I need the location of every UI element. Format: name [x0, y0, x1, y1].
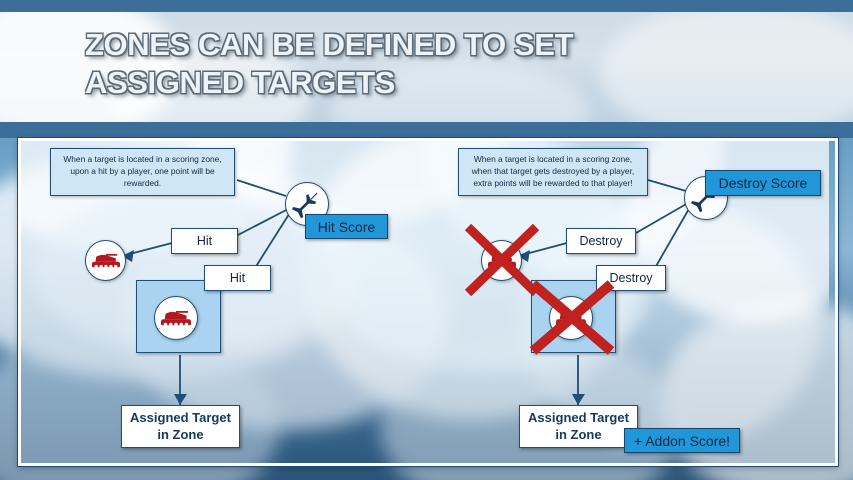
tank-icon — [556, 309, 586, 328]
right-assigned-target-callout: Assigned Target in Zone — [519, 405, 638, 448]
left-assigned-target-callout: Assigned Target in Zone — [121, 405, 240, 448]
tank-icon — [161, 309, 191, 328]
right-assigned-target-in-zone[interactable] — [549, 296, 593, 340]
header-bottom-accent-strip — [0, 122, 853, 138]
tank-icon — [488, 252, 516, 270]
addon-score-badge[interactable]: + Addon Score! — [624, 428, 740, 453]
tank-icon — [92, 252, 120, 270]
left-hit-label-top: Hit — [171, 228, 238, 254]
left-hit-score-badge[interactable]: Hit Score — [305, 214, 388, 239]
left-hit-label-bottom: Hit — [204, 265, 271, 291]
left-target-outside-zone[interactable] — [85, 240, 126, 281]
right-destroy-label-bottom: Destroy — [596, 265, 666, 291]
page-title: ZONES CAN BE DEFINED TO SET ASSIGNED TAR… — [85, 26, 785, 102]
right-target-outside-zone[interactable] — [481, 240, 522, 281]
right-destroy-score-badge[interactable]: Destroy Score — [705, 170, 821, 196]
right-destroy-label-top: Destroy — [566, 228, 636, 254]
slide-stage: ZONES CAN BE DEFINED TO SET ASSIGNED TAR… — [0, 0, 853, 480]
left-assigned-target-in-zone[interactable] — [154, 296, 198, 340]
top-accent-strip — [0, 0, 853, 12]
left-description-box: When a target is located in a scoring zo… — [50, 148, 235, 196]
right-description-box: When a target is located in a scoring zo… — [458, 148, 648, 196]
cloud-shape — [623, 141, 829, 323]
